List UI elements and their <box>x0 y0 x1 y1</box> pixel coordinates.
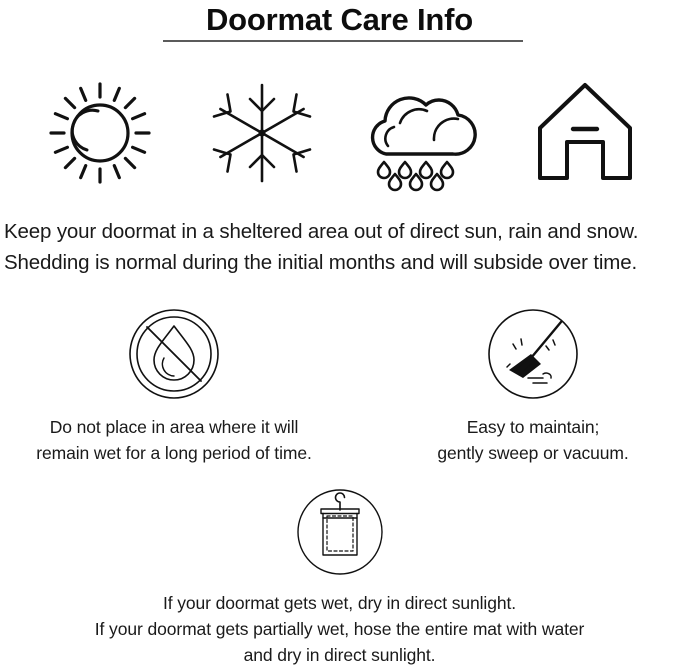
sun-icon <box>25 68 175 198</box>
care-caption-easy-maintain-line-2: gently sweep or vacuum. <box>387 440 679 466</box>
care-caption-easy-maintain-line-1: Easy to maintain; <box>387 414 679 440</box>
main-text-line-2: Shedding is normal during the initial mo… <box>4 247 675 278</box>
care-caption-no-water: Do not place in area where it will remai… <box>4 414 344 466</box>
care-items-row: Do not place in area where it will remai… <box>0 308 679 468</box>
care-caption-no-water-line-1: Do not place in area where it will <box>4 414 344 440</box>
main-care-paragraph: Keep your doormat in a sheltered area ou… <box>0 216 679 278</box>
house-icon <box>510 68 660 198</box>
broom-icon <box>387 308 679 408</box>
care-caption-no-water-line-2: remain wet for a long period of time. <box>4 440 344 466</box>
dry-caption: If your doormat gets wet, dry in direct … <box>0 590 679 668</box>
no-water-icon <box>4 308 344 408</box>
care-item-no-standing-water: Do not place in area where it will remai… <box>4 308 344 466</box>
care-item-dry-instructions: If your doormat gets wet, dry in direct … <box>0 488 679 668</box>
care-item-easy-maintain: Easy to maintain; gently sweep or vacuum… <box>387 308 679 466</box>
weather-icon-row <box>0 68 679 198</box>
page-title: Doormat Care Info <box>0 0 679 38</box>
main-text-line-1: Keep your doormat in a sheltered area ou… <box>4 216 675 247</box>
title-underline-rule <box>163 40 523 42</box>
dry-caption-line-1: If your doormat gets wet, dry in direct … <box>0 590 679 616</box>
snowflake-icon <box>187 68 337 198</box>
rain-cloud-icon <box>348 68 498 198</box>
title-block: Doormat Care Info <box>0 0 679 38</box>
care-caption-easy-maintain: Easy to maintain; gently sweep or vacuum… <box>387 414 679 466</box>
dry-caption-line-2: If your doormat gets partially wet, hose… <box>0 616 679 642</box>
hang-to-dry-icon <box>0 488 679 588</box>
dry-caption-line-3: and dry in direct sunlight. <box>0 642 679 668</box>
